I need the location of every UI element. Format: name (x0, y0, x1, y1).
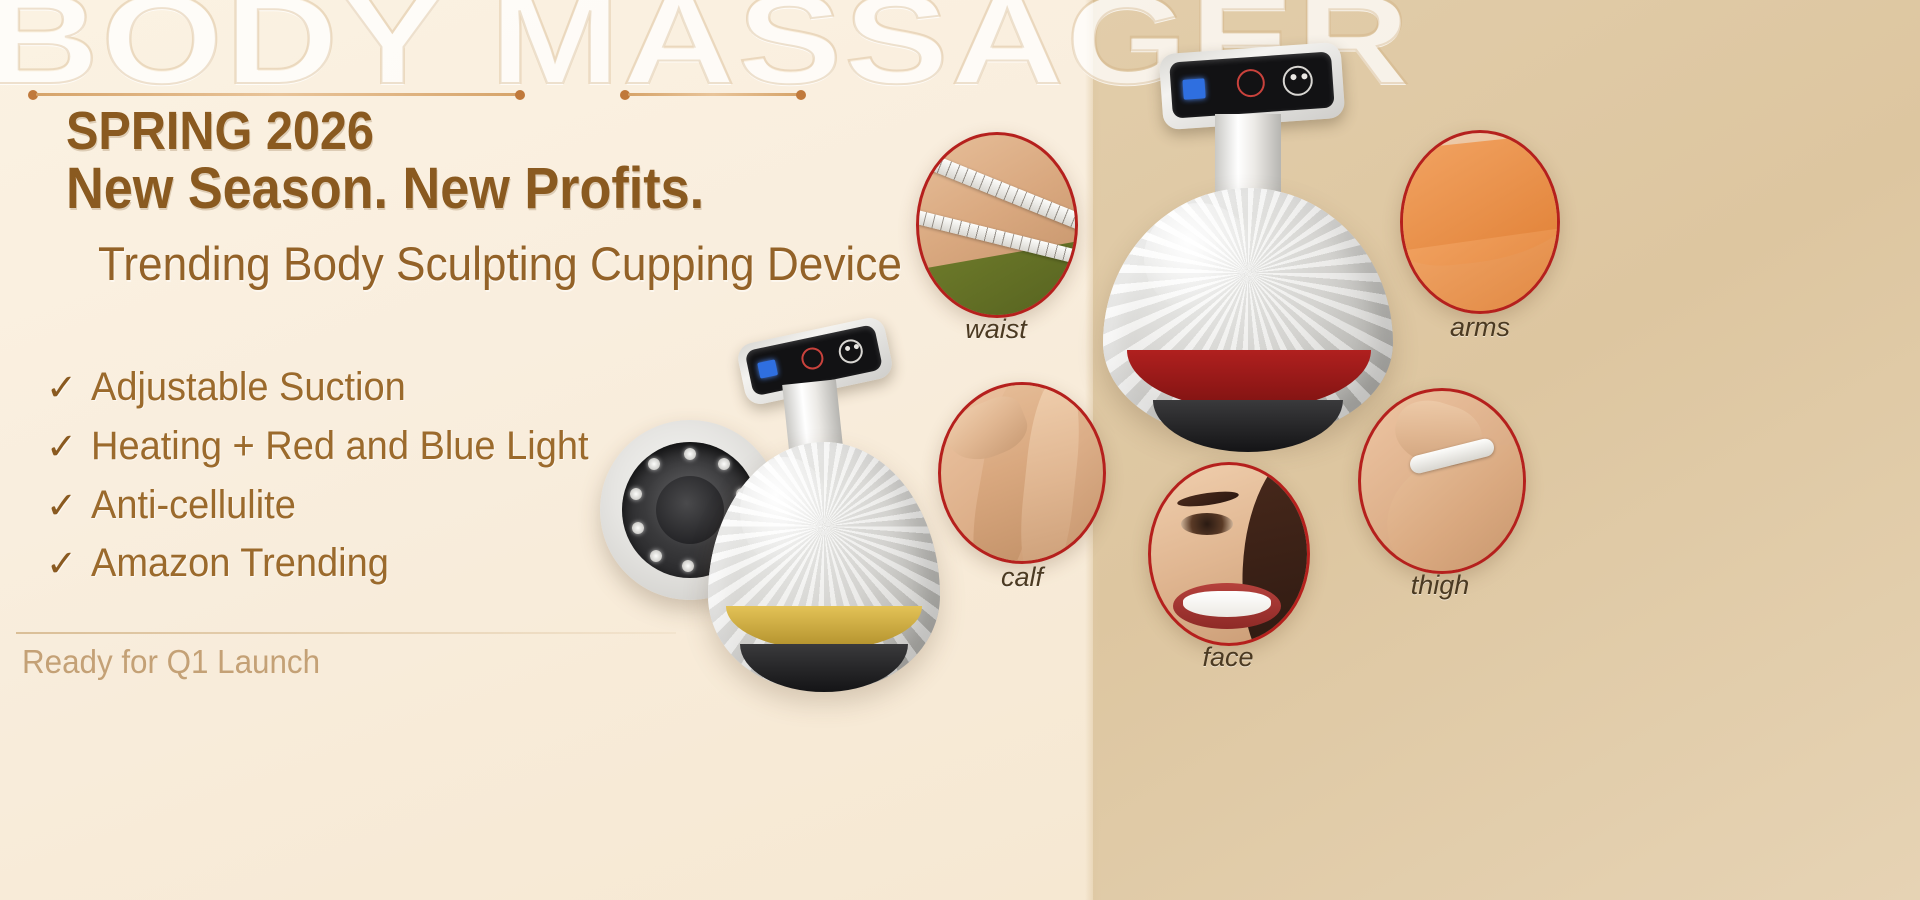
rule-segment (36, 93, 521, 96)
feature-item: ✓ Amazon Trending (46, 534, 686, 593)
screen-blue-indicator (757, 359, 778, 378)
device-highlight (1144, 203, 1254, 313)
screen-red-ring-icon (799, 345, 825, 371)
check-icon: ✓ (46, 537, 77, 591)
device-base-ring (1153, 400, 1343, 452)
bodypart-circle-calf (938, 382, 1106, 564)
eyebrow-detail (1176, 489, 1239, 510)
rule-dot-icon (796, 90, 806, 100)
eyebrow-text: SPRING 2026 (66, 104, 374, 158)
check-icon: ✓ (46, 420, 77, 474)
screen-mode-ring-icon (837, 337, 865, 365)
bodypart-label-calf: calf (922, 562, 1122, 593)
bodypart-label-thigh: thigh (1340, 570, 1540, 601)
headline-text: New Season. New Profits. (66, 160, 704, 218)
feature-label: Adjustable Suction (91, 358, 406, 417)
bodypart-circle-face (1148, 462, 1310, 646)
check-icon: ✓ (46, 361, 77, 415)
cup-core (656, 476, 724, 544)
eye-detail (1181, 513, 1233, 535)
device-screen (1169, 51, 1335, 118)
check-icon: ✓ (46, 479, 77, 533)
rule-segment (628, 93, 798, 96)
bodypart-label-face: face (1128, 642, 1328, 673)
device-hero (1075, 48, 1415, 468)
feature-label: Amazon Trending (91, 534, 389, 593)
cup-led-icon (630, 488, 642, 500)
device-secondary (600, 330, 940, 690)
bodypart-circle-thigh (1358, 388, 1526, 574)
cup-led-icon (682, 560, 694, 572)
decorative-rule (28, 88, 818, 102)
cup-led-icon (632, 522, 644, 534)
feature-item: ✓ Adjustable Suction (46, 358, 686, 417)
bodypart-label-waist: waist (896, 314, 1096, 345)
footer-note: Ready for Q1 Launch (22, 643, 320, 681)
device-base-ring (740, 644, 908, 692)
promo-banner: BODY MASSAGER SPRING 2026 New Season. Ne… (0, 0, 1920, 900)
feature-item: ✓ Anti-cellulite (46, 476, 686, 535)
feature-list: ✓ Adjustable Suction ✓ Heating + Red and… (46, 358, 686, 593)
feature-label: Anti-cellulite (91, 476, 296, 535)
screen-blue-indicator (1182, 78, 1205, 99)
subtitle-text: Trending Body Sculpting Cupping Device (98, 240, 902, 287)
feature-label: Heating + Red and Blue Light (91, 417, 589, 476)
teeth-detail (1183, 591, 1271, 617)
bodypart-circle-arms (1400, 130, 1560, 314)
feature-item: ✓ Heating + Red and Blue Light (46, 417, 686, 476)
cup-led-icon (684, 448, 696, 460)
footer-divider (16, 632, 676, 634)
cup-led-icon (648, 458, 660, 470)
screen-mode-ring-icon (1282, 65, 1314, 97)
screen-red-ring-icon (1236, 68, 1266, 98)
cup-led-icon (650, 550, 662, 562)
rule-dot-icon (515, 90, 525, 100)
bodypart-label-arms: arms (1380, 312, 1580, 343)
device-highlight (740, 457, 828, 566)
bodypart-circle-waist (916, 132, 1078, 318)
cup-led-icon (718, 458, 730, 470)
